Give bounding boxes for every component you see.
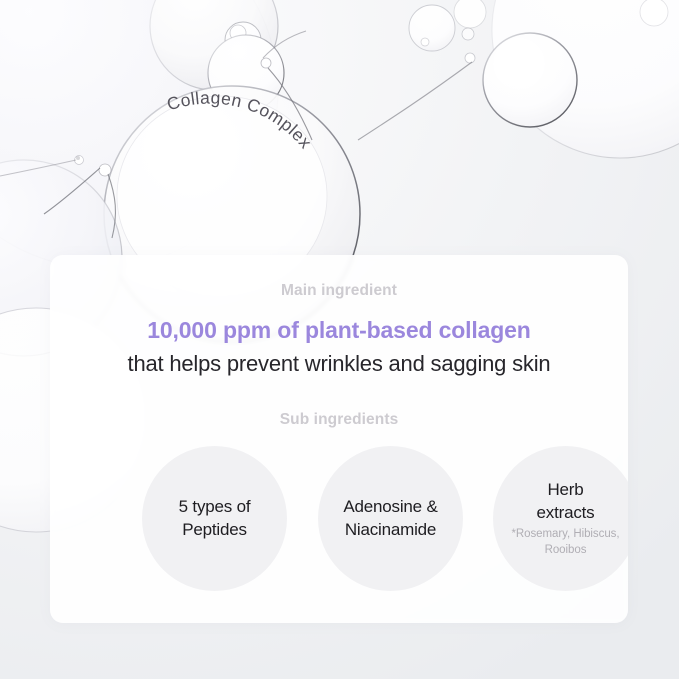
main-ingredient-label: Main ingredient (50, 282, 628, 300)
sub-ingredient-title-line1: Adenosine & (343, 497, 437, 516)
sub-ingredient-title-line1: 5 types of (179, 497, 251, 516)
sub-ingredient-note: *Rosemary, Hibiscus, Rooibos (506, 527, 626, 558)
sub-ingredient-title: Adenosine & Niacinamide (343, 496, 437, 541)
sub-ingredient-adenosine-niacinamide: Adenosine & Niacinamide (318, 446, 463, 591)
main-ingredient-headline-accent: 10,000 ppm of plant-based collagen (50, 317, 628, 344)
sub-ingredient-title-line2: Niacinamide (345, 520, 436, 539)
sub-ingredient-title-line1: Herb (547, 480, 583, 499)
sub-ingredient-title: 5 types of Peptides (179, 496, 251, 541)
sub-ingredients-label: Sub ingredients (50, 411, 628, 429)
sub-ingredient-peptides: 5 types of Peptides (142, 446, 287, 591)
ingredient-card: Main ingredient 10,000 ppm of plant-base… (50, 255, 628, 623)
product-ingredient-infographic: Collagen Complex Main ingredient 10,000 … (0, 0, 679, 679)
sub-ingredient-title-line2: extracts (537, 503, 595, 522)
sub-ingredients-group: 5 types of Peptides Adenosine & Niacinam… (142, 446, 628, 591)
sub-ingredient-herb-extracts: Herb extracts *Rosemary, Hibiscus, Rooib… (493, 446, 628, 591)
sub-ingredient-title-line2: Peptides (182, 520, 247, 539)
main-ingredient-headline-sub: that helps prevent wrinkles and sagging … (50, 351, 628, 377)
sub-ingredient-title: Herb extracts (537, 479, 595, 524)
